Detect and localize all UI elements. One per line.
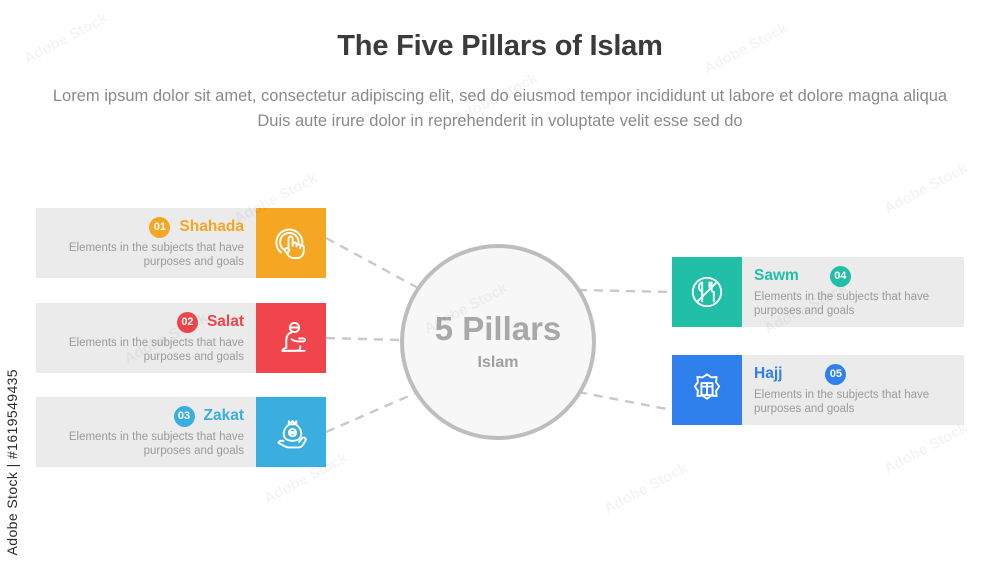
hub-subtitle: Islam (478, 354, 519, 372)
card-badge-03: 03 (174, 406, 195, 427)
connector-line-05 (578, 392, 672, 410)
pillar-card-05[interactable]: Hajj 05 Elements in the subjects that ha… (672, 355, 964, 425)
card-title-05: Hajj (754, 365, 782, 383)
card-badge-01: 01 (149, 217, 170, 238)
card-title-04: Sawm (754, 267, 799, 285)
infographic-canvas: The Five Pillars of Islam Lorem ipsum do… (0, 0, 1000, 563)
card-description-01: Elements in the subjects that have purpo… (46, 241, 244, 270)
card-icon-tile-02 (256, 303, 326, 373)
no-food-fasting-icon (685, 270, 729, 314)
praying-person-icon (269, 316, 313, 360)
center-hub: 5 Pillars Islam (400, 244, 596, 440)
pillar-card-01[interactable]: 01 Shahada Elements in the subjects that… (36, 208, 326, 278)
hub-title: 5 Pillars (435, 312, 562, 347)
card-icon-tile-01 (256, 208, 326, 278)
kaaba-star-icon (685, 368, 729, 412)
card-content-01: 01 Shahada Elements in the subjects that… (36, 208, 256, 278)
card-icon-tile-05 (672, 355, 742, 425)
card-content-04: Sawm 04 Elements in the subjects that ha… (742, 257, 964, 327)
card-content-03: 03 Zakat Elements in the subjects that h… (36, 397, 256, 467)
stock-watermark-sidebar: Adobe Stock | #1619549435 (4, 369, 20, 555)
card-title-03: Zakat (204, 407, 245, 425)
connector-line-04 (578, 290, 672, 292)
card-description-03: Elements in the subjects that have purpo… (46, 430, 244, 459)
card-content-05: Hajj 05 Elements in the subjects that ha… (742, 355, 964, 425)
card-badge-04: 04 (830, 266, 851, 287)
pointing-hand-circle-icon (269, 221, 313, 265)
card-description-02: Elements in the subjects that have purpo… (46, 336, 244, 365)
pillar-card-04[interactable]: Sawm 04 Elements in the subjects that ha… (672, 257, 964, 327)
card-description-04: Elements in the subjects that have purpo… (754, 290, 954, 319)
connector-line-02 (326, 338, 400, 340)
connector-line-03 (326, 392, 418, 432)
card-icon-tile-03 (256, 397, 326, 467)
card-title-01: Shahada (179, 218, 244, 236)
card-badge-02: 02 (177, 312, 198, 333)
card-badge-05: 05 (825, 364, 846, 385)
pillar-card-02[interactable]: 02 Salat Elements in the subjects that h… (36, 303, 326, 373)
card-description-05: Elements in the subjects that have purpo… (754, 388, 954, 417)
card-title-02: Salat (207, 313, 244, 331)
connector-line-01 (326, 238, 418, 288)
card-content-02: 02 Salat Elements in the subjects that h… (36, 303, 256, 373)
charity-money-bag-icon (269, 410, 313, 454)
card-icon-tile-04 (672, 257, 742, 327)
pillar-card-03[interactable]: 03 Zakat Elements in the subjects that h… (36, 397, 326, 467)
